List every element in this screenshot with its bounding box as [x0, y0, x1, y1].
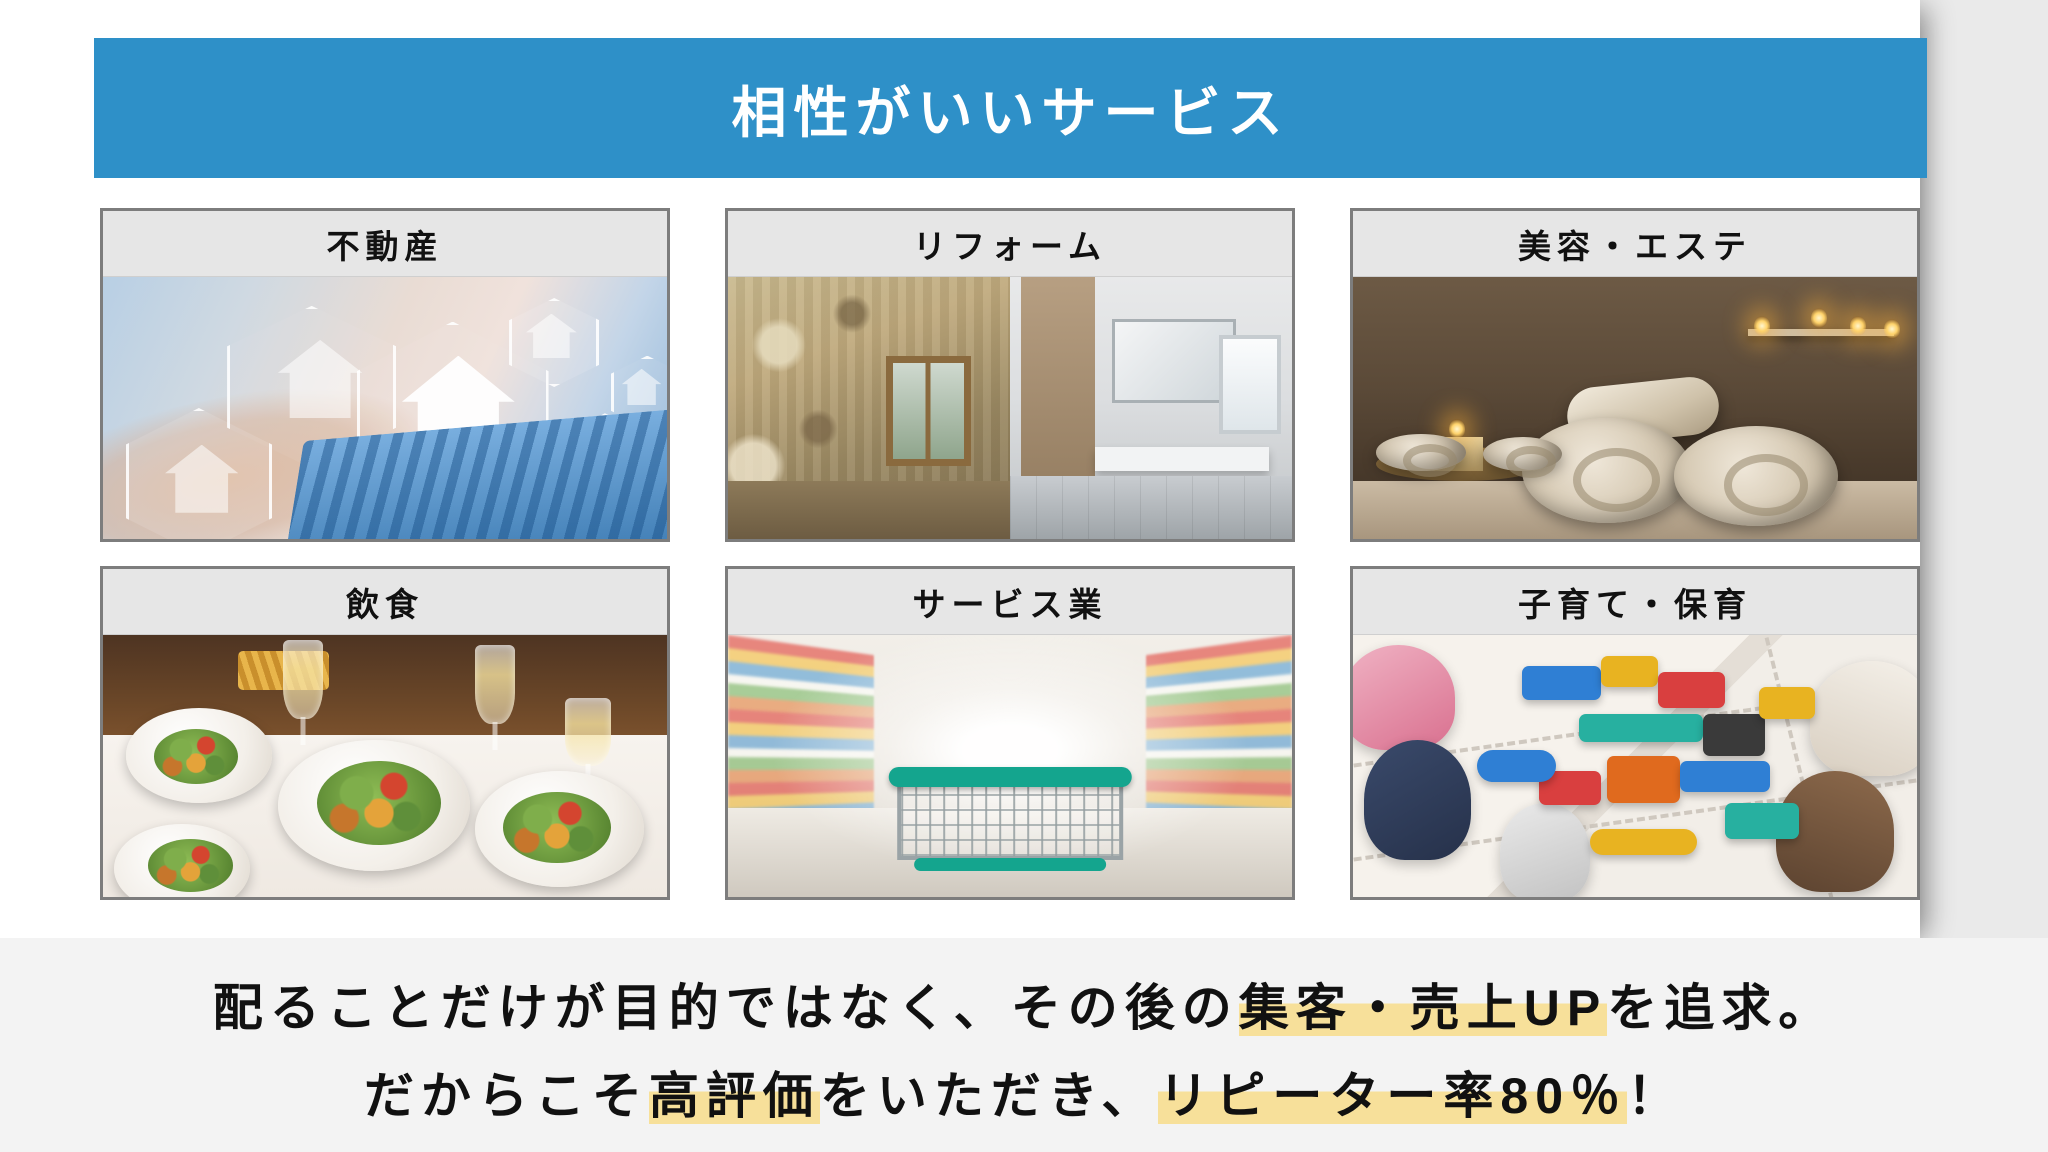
bathroom-counter: [1095, 447, 1270, 471]
spa-photo: [1353, 277, 1917, 539]
caption-line1-highlight: 集客・売上UP: [1239, 980, 1607, 1036]
toy-block: [1522, 666, 1601, 700]
salad-dish: [503, 792, 610, 863]
old-floor: [728, 481, 1010, 539]
renovation-photo: [728, 277, 1292, 539]
childcare-photo: [1353, 635, 1917, 897]
small-towel: [1376, 434, 1466, 471]
service-card-grid: 不動産: [100, 208, 1920, 900]
card-label: 美容・エステ: [1353, 211, 1917, 277]
hexagon-icon: [532, 413, 667, 539]
candle-flame: [1850, 316, 1866, 336]
toy-block: [1601, 656, 1657, 687]
supermarket-photo: [728, 635, 1292, 897]
house-icon: [560, 439, 639, 512]
old-window: [886, 356, 971, 466]
caption-line-2: だからこそ高評価をいただき、リピーター率80％！: [0, 1052, 2048, 1140]
child: [1353, 645, 1455, 750]
rolled-towel: [1674, 426, 1838, 526]
dining-photo: [103, 635, 667, 897]
page-title: 相性がいいサービス: [731, 68, 1289, 148]
child: [1500, 803, 1590, 897]
toy-block: [1579, 714, 1703, 743]
card-label-text: 飲食: [346, 578, 424, 626]
card-label-text: 美容・エステ: [1518, 220, 1752, 268]
caption-line1-after: を追求。: [1607, 980, 1835, 1036]
toy-car: [1477, 750, 1556, 781]
slide-panel: 相性がいいサービス 不動産: [0, 0, 1920, 938]
title-bar: 相性がいいサービス: [94, 38, 1927, 178]
child: [1810, 661, 1917, 776]
caption-line2-highlight-1: 高評価: [649, 1068, 820, 1124]
toy-block: [1607, 756, 1680, 803]
shopping-cart-bar: [914, 858, 1106, 871]
before-room: [728, 277, 1010, 539]
caption-line1-before: 配ることだけが目的ではなく、その後の: [213, 980, 1239, 1036]
bathroom-mirror: [1112, 319, 1236, 403]
card-label-text: 不動産: [327, 220, 444, 268]
card-label-text: 子育て・保育: [1518, 578, 1752, 626]
candle-flame: [1449, 419, 1465, 439]
small-towel: [1483, 437, 1562, 471]
caption: 配ることだけが目的ではなく、その後の集客・売上UPを追求。 だからこそ高評価をい…: [0, 964, 2048, 1140]
service-card-real-estate[interactable]: 不動産: [100, 208, 670, 542]
candle-flame: [1884, 319, 1900, 339]
card-label: サービス業: [728, 569, 1292, 635]
service-card-food[interactable]: 飲食: [100, 566, 670, 900]
card-label-text: リフォーム: [913, 220, 1107, 268]
service-card-renovation[interactable]: リフォーム: [725, 208, 1295, 542]
salad-dish: [317, 761, 441, 845]
caption-line2-highlight-2: リピーター率80％: [1158, 1068, 1627, 1124]
service-card-beauty[interactable]: 美容・エステ: [1350, 208, 1920, 542]
child: [1364, 740, 1471, 861]
card-label: 子育て・保育: [1353, 569, 1917, 635]
champagne-glass: [475, 645, 514, 724]
service-card-childcare[interactable]: 子育て・保育: [1350, 566, 1920, 900]
card-label: リフォーム: [728, 211, 1292, 277]
hex-icon-overlay: [103, 277, 667, 539]
salad-dish: [148, 839, 233, 891]
caption-line-1: 配ることだけが目的ではなく、その後の集客・売上UPを追求。: [0, 964, 2048, 1052]
candle-shelf: [1748, 329, 1895, 336]
toy-block: [1703, 714, 1765, 756]
champagne-glass: [283, 640, 322, 719]
caption-line2-before: だからこそ: [364, 1068, 649, 1124]
after-room: [1010, 277, 1292, 539]
toy-block: [1658, 672, 1726, 709]
caption-line2-after: ！: [1627, 1068, 1684, 1124]
toy-block: [1680, 761, 1770, 792]
toy-block: [1759, 687, 1815, 718]
water-glass: [565, 698, 610, 766]
real-estate-photo: [103, 277, 667, 539]
new-window: [1219, 335, 1281, 435]
service-card-service-industry[interactable]: サービス業: [725, 566, 1295, 900]
card-label: 飲食: [103, 569, 667, 635]
candle-flame: [1811, 308, 1827, 328]
card-label: 不動産: [103, 211, 667, 277]
shopping-cart-basket: [897, 782, 1123, 861]
caption-line2-middle: をいただき、: [820, 1068, 1159, 1124]
slide-root: 相性がいいサービス 不動産: [0, 0, 2048, 1152]
card-label-text: サービス業: [913, 578, 1108, 626]
shopping-cart-handle: [889, 767, 1132, 787]
tiled-floor: [1010, 476, 1292, 539]
toy-block: [1725, 803, 1798, 840]
toy-car: [1590, 829, 1697, 855]
